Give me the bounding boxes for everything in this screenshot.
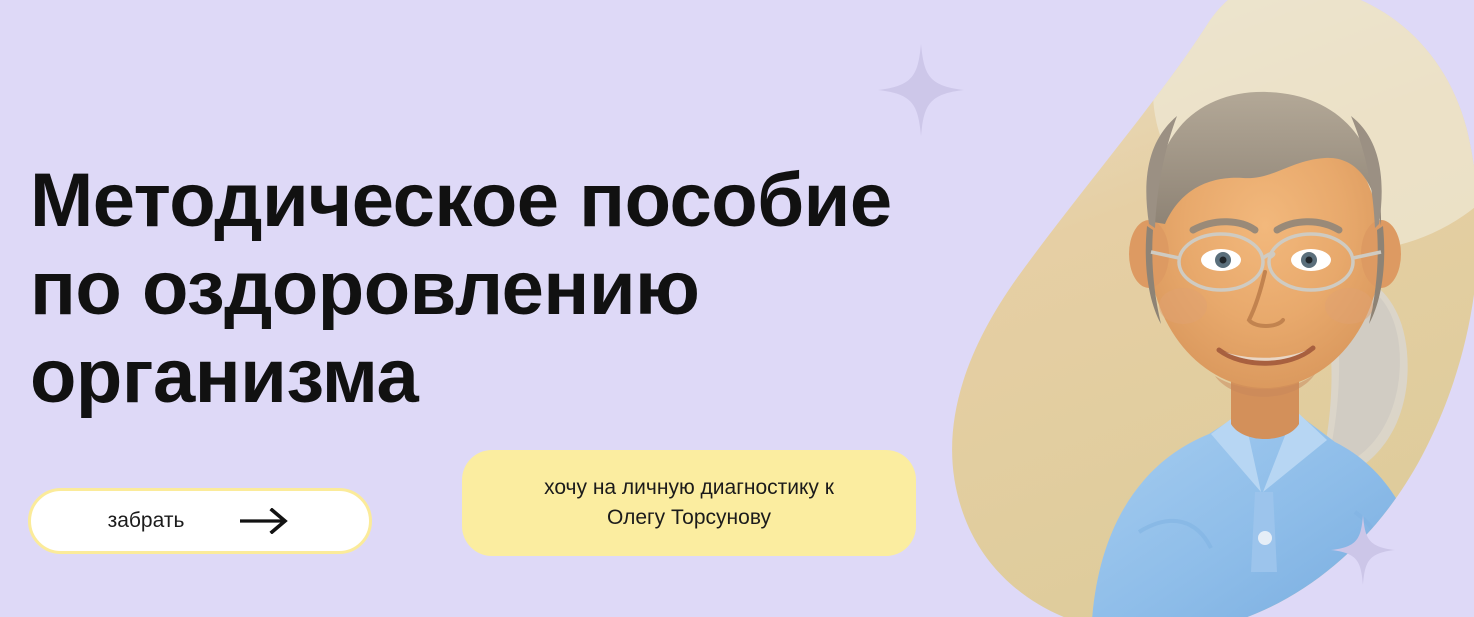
portrait-photo	[943, 0, 1474, 617]
page-title: Методическое пособие по оздоровлению орг…	[30, 157, 892, 421]
cta-button-label: забрать	[108, 509, 185, 533]
get-material-button[interactable]: забрать	[28, 488, 372, 554]
personal-diagnostic-pill[interactable]: хочу на личную диагностику к Олегу Торсу…	[462, 450, 916, 556]
personal-diagnostic-label: хочу на личную диагностику к Олегу Торсу…	[544, 473, 834, 533]
arrow-right-icon	[240, 508, 292, 534]
hero-banner: Методическое пособие по оздоровлению орг…	[0, 0, 1474, 617]
